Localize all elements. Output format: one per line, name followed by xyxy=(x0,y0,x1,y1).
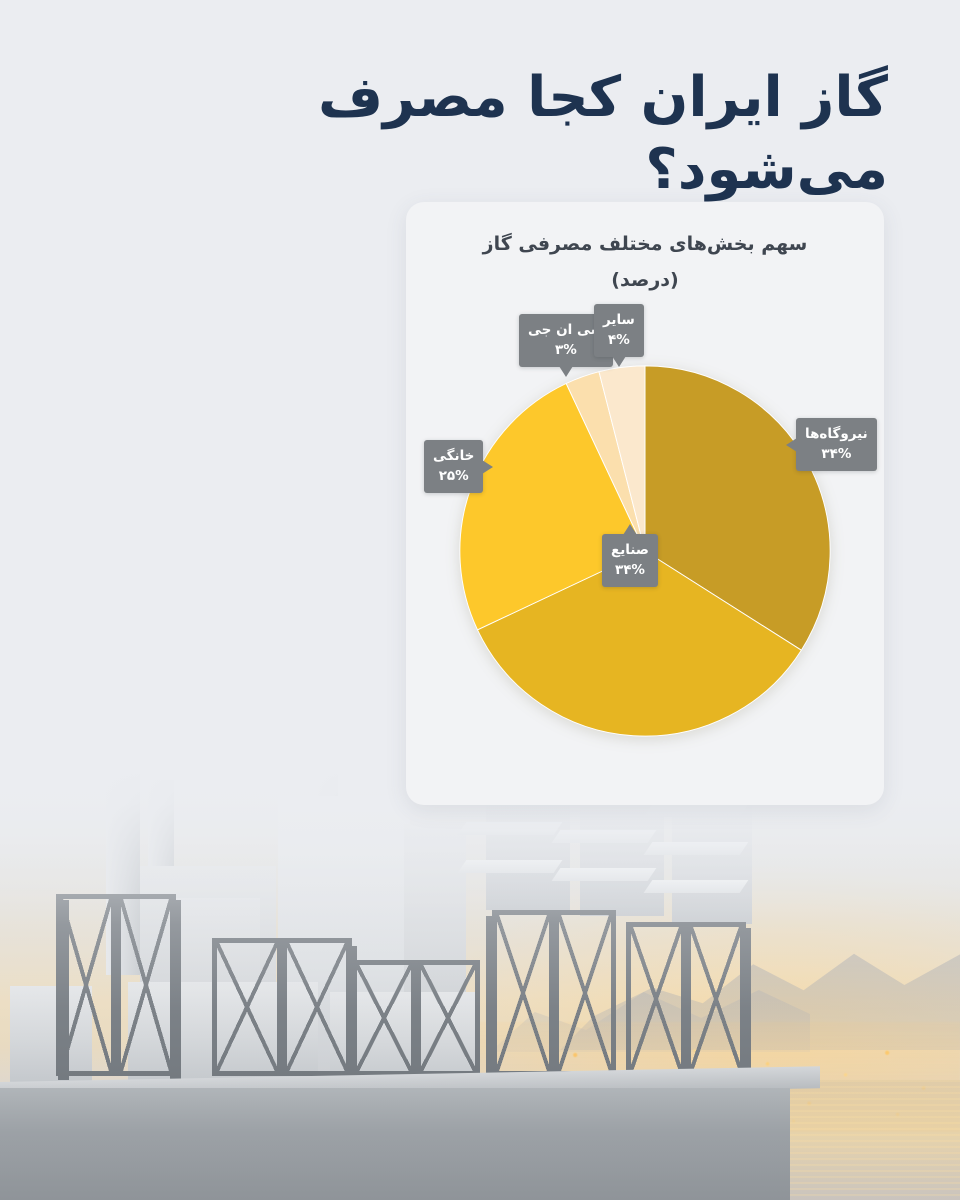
callout-value: ۲۵% xyxy=(433,467,474,485)
callout-industry: صنایع ۳۴% xyxy=(602,534,658,587)
callout-label: سایر xyxy=(603,311,635,329)
photo-fade-overlay xyxy=(0,770,960,1200)
power-plant-photo xyxy=(0,770,960,1200)
chart-title-main: سهم بخش‌های مختلف مصرفی گاز xyxy=(483,233,808,255)
infographic-root: گاز ایران کجا مصرف می‌شود؟ سهم بخش‌های م… xyxy=(0,0,960,1200)
callout-value: ۴% xyxy=(603,331,635,349)
callout-value: ۳۴% xyxy=(805,445,868,463)
chart-title-unit: (درصد) xyxy=(406,262,884,298)
callout-other: سایر ۴% xyxy=(594,304,644,357)
callout-label: نیروگاه‌ها xyxy=(805,425,868,443)
callout-label: سی ان جی xyxy=(528,321,604,339)
callout-value: ۳۴% xyxy=(611,561,649,579)
chart-title: سهم بخش‌های مختلف مصرفی گاز (درصد) xyxy=(406,226,884,298)
callout-label: صنایع xyxy=(611,541,649,559)
callout-label: خانگی xyxy=(433,447,474,465)
page-title: گاز ایران کجا مصرف می‌شود؟ xyxy=(58,62,888,205)
callout-power-plants: نیروگاه‌ها ۳۴% xyxy=(796,418,877,471)
chart-card: سهم بخش‌های مختلف مصرفی گاز (درصد) نیروگ… xyxy=(406,202,884,805)
callout-value: ۳% xyxy=(528,341,604,359)
callout-residential: خانگی ۲۵% xyxy=(424,440,483,493)
